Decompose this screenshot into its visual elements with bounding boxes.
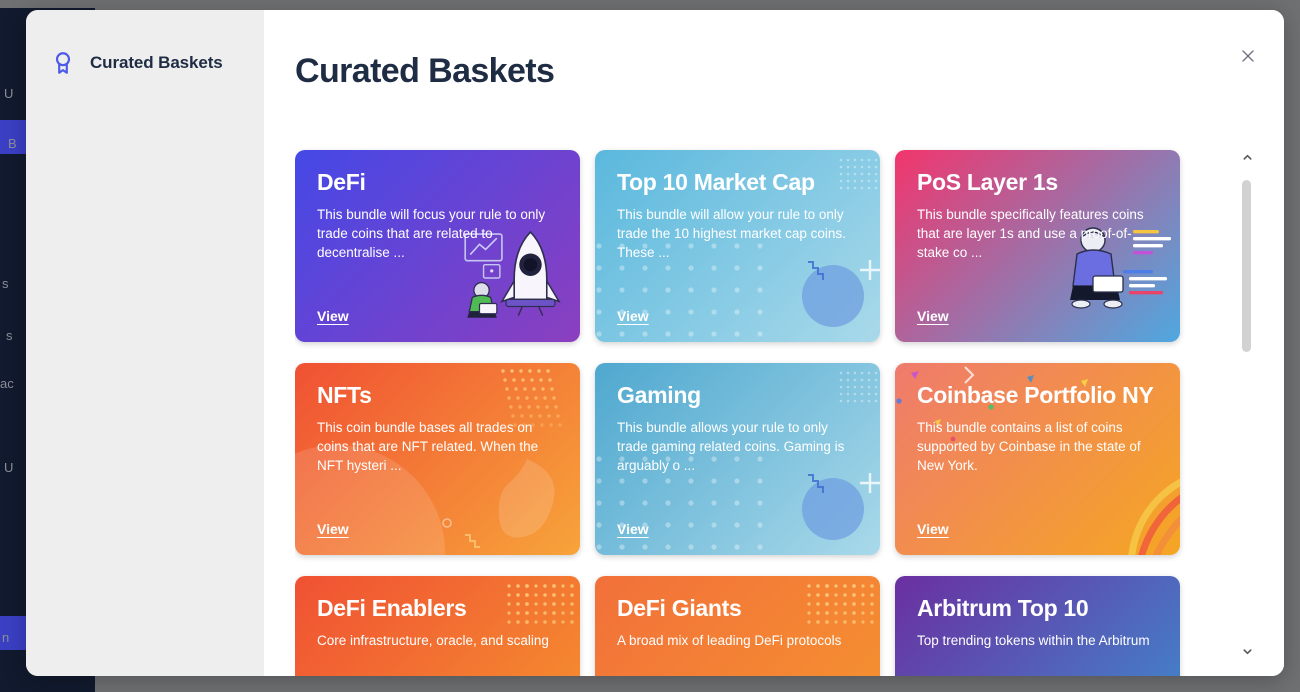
basket-title: Gaming xyxy=(617,383,858,408)
basket-description: Top trending tokens within the Arbitrum xyxy=(917,631,1158,650)
basket-description: Core infrastructure, oracle, and scaling xyxy=(317,631,558,650)
modal-main: Curated Baskets xyxy=(264,10,1284,676)
basket-title: PoS Layer 1s xyxy=(917,170,1158,195)
basket-title: Coinbase Portfolio NY xyxy=(917,383,1158,408)
basket-grid: DeFiThis bundle will focus your rule to … xyxy=(295,138,1228,676)
close-icon[interactable] xyxy=(1235,43,1261,69)
basket-description: This bundle contains a list of coins sup… xyxy=(917,418,1158,475)
backdrop-nav-label: n xyxy=(2,630,9,645)
basket-card[interactable]: NFTsThis coin bundle bases all trades on… xyxy=(295,363,580,555)
modal-sidebar: Curated Baskets xyxy=(26,10,264,676)
basket-card[interactable]: DeFiThis bundle will focus your rule to … xyxy=(295,150,580,342)
basket-title: Top 10 Market Cap xyxy=(617,170,858,195)
scrollbar-track[interactable] xyxy=(1242,172,1251,636)
page-title: Curated Baskets xyxy=(295,52,554,91)
backdrop-nav-label: U xyxy=(4,460,13,475)
sidebar-item-label: Curated Baskets xyxy=(90,53,223,73)
backdrop-nav-label: ac xyxy=(0,376,14,391)
basket-view-link[interactable]: View xyxy=(317,521,349,537)
basket-card[interactable]: Top 10 Market CapThis bundle will allow … xyxy=(595,150,880,342)
basket-description: A broad mix of leading DeFi protocols xyxy=(617,631,858,650)
basket-scroll-area[interactable]: DeFiThis bundle will focus your rule to … xyxy=(295,138,1228,676)
backdrop-nav-label: s xyxy=(2,276,9,291)
basket-card[interactable]: DeFi GiantsA broad mix of leading DeFi p… xyxy=(595,576,880,676)
basket-card[interactable]: Arbitrum Top 10Top trending tokens withi… xyxy=(895,576,1180,676)
basket-description: This coin bundle bases all trades on coi… xyxy=(317,418,558,475)
basket-view-link[interactable]: View xyxy=(317,308,349,324)
basket-title: Arbitrum Top 10 xyxy=(917,596,1158,621)
basket-title: DeFi Enablers xyxy=(317,596,558,621)
basket-card[interactable]: GamingThis bundle allows your rule to on… xyxy=(595,363,880,555)
basket-view-link[interactable]: View xyxy=(617,308,649,324)
basket-description: This bundle will allow your rule to only… xyxy=(617,205,858,262)
backdrop-nav-label: s xyxy=(6,328,13,343)
basket-card[interactable]: DeFi EnablersCore infrastructure, oracle… xyxy=(295,576,580,676)
basket-title: DeFi Giants xyxy=(617,596,858,621)
basket-view-link[interactable]: View xyxy=(917,521,949,537)
basket-view-link[interactable]: View xyxy=(917,308,949,324)
scrollbar[interactable] xyxy=(1236,150,1258,658)
basket-description: This bundle allows your rule to only tra… xyxy=(617,418,858,475)
basket-title: NFTs xyxy=(317,383,558,408)
basket-title: DeFi xyxy=(317,170,558,195)
scrollbar-thumb[interactable] xyxy=(1242,180,1251,352)
award-ribbon-icon xyxy=(50,50,76,76)
chevron-up-icon[interactable] xyxy=(1240,150,1254,164)
sidebar-item-curated-baskets[interactable]: Curated Baskets xyxy=(50,50,264,76)
basket-description: This bundle will focus your rule to only… xyxy=(317,205,558,262)
backdrop-nav-label: U xyxy=(4,86,13,101)
curated-baskets-modal: Curated Baskets Curated Baskets xyxy=(26,10,1284,676)
basket-card[interactable]: Coinbase Portfolio NYThis bundle contain… xyxy=(895,363,1180,555)
basket-view-link[interactable]: View xyxy=(617,521,649,537)
backdrop-nav-label: B xyxy=(8,136,17,151)
basket-description: This bundle specifically features coins … xyxy=(917,205,1158,262)
chevron-down-icon[interactable] xyxy=(1240,644,1254,658)
basket-card[interactable]: PoS Layer 1sThis bundle specifically fea… xyxy=(895,150,1180,342)
